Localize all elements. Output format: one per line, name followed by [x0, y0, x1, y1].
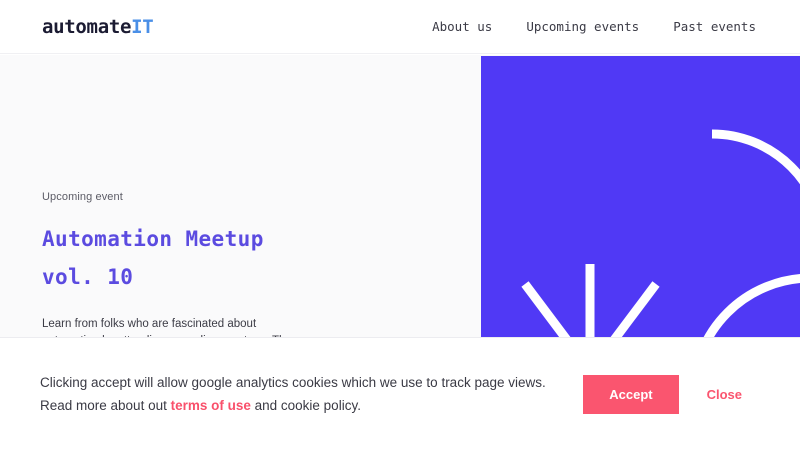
logo-text-main: automate — [42, 16, 131, 38]
nav-item-about-us[interactable]: About us — [432, 19, 492, 34]
accept-cookies-button[interactable]: Accept — [583, 375, 678, 414]
terms-of-use-link[interactable]: terms of use — [171, 398, 251, 413]
cookie-banner-text: Clicking accept will allow google analyt… — [40, 371, 583, 417]
cookie-banner-actions: Accept Close — [583, 375, 760, 414]
cookie-text-prefix: Read more about out — [40, 398, 171, 413]
cookie-text-line-1: Clicking accept will allow google analyt… — [40, 371, 583, 394]
nav-item-upcoming-events[interactable]: Upcoming events — [526, 19, 639, 34]
close-cookie-banner-button[interactable]: Close — [689, 375, 760, 414]
cookie-text-suffix: and cookie policy. — [251, 398, 361, 413]
site-header: automateIT About us Upcoming events Past… — [0, 0, 800, 54]
arc-upper-icon — [712, 134, 800, 246]
cookie-consent-banner: Clicking accept will allow google analyt… — [0, 337, 800, 450]
hero-eyebrow: Upcoming event — [42, 191, 372, 203]
hero-headline: Automation Meetup vol. 10 — [42, 220, 372, 296]
nav-item-past-events[interactable]: Past events — [673, 19, 756, 34]
primary-navigation: About us Upcoming events Past events — [432, 19, 756, 34]
logo-text-accent: IT — [131, 16, 153, 38]
cookie-text-line-2: Read more about out terms of use and coo… — [40, 394, 583, 417]
site-logo[interactable]: automateIT — [42, 16, 153, 38]
